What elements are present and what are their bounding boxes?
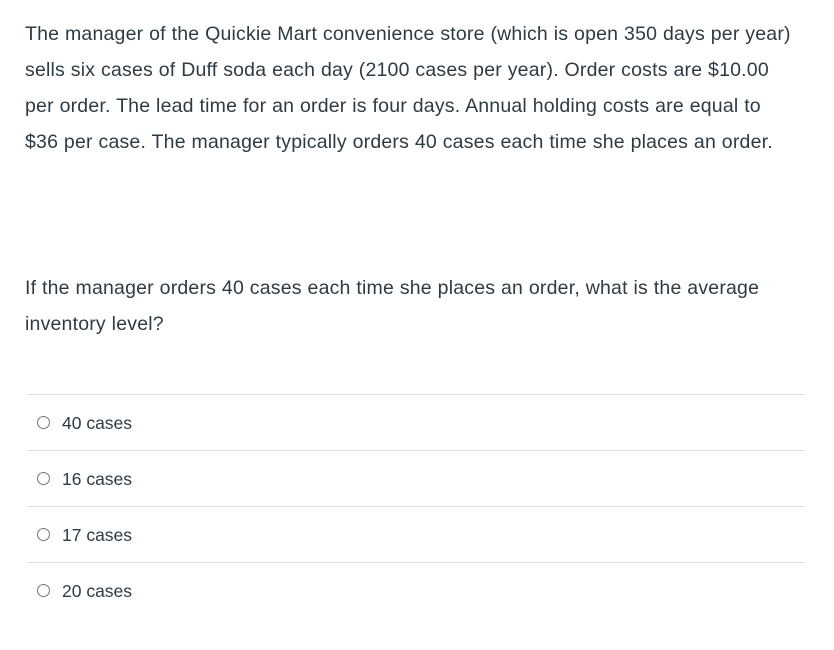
answer-option-row[interactable]: 17 cases (27, 506, 805, 562)
question-body: The manager of the Quickie Mart convenie… (25, 16, 797, 160)
question-prompt: If the manager orders 40 cases each time… (25, 270, 797, 342)
radio-button-icon[interactable] (37, 416, 50, 429)
radio-button-icon[interactable] (37, 528, 50, 541)
radio-button-icon[interactable] (37, 472, 50, 485)
answer-option-label: 40 cases (62, 412, 132, 434)
answer-option-label: 20 cases (62, 580, 132, 602)
answer-option-row[interactable]: 40 cases (27, 394, 805, 450)
answer-options-list: 40 cases 16 cases 17 cases 20 cases (27, 394, 805, 618)
answer-option-label: 16 cases (62, 468, 132, 490)
answer-option-label: 17 cases (62, 524, 132, 546)
answer-option-row[interactable]: 16 cases (27, 450, 805, 506)
radio-button-icon[interactable] (37, 584, 50, 597)
question-stem: The manager of the Quickie Mart convenie… (25, 16, 797, 160)
question-page: The manager of the Quickie Mart convenie… (0, 0, 834, 650)
answer-option-row[interactable]: 20 cases (27, 562, 805, 618)
